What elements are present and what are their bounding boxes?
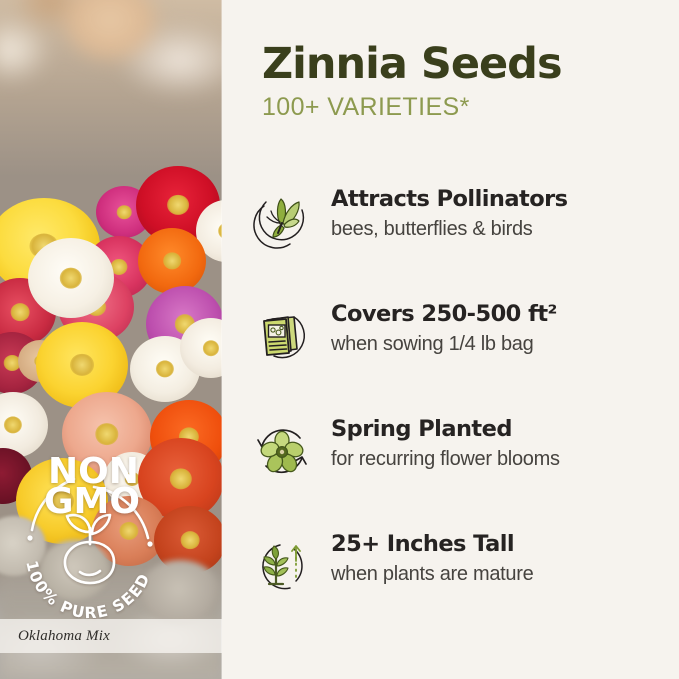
feature-row: Covers 250-500 ft² when sowing 1/4 lb ba… (232, 301, 652, 416)
photo-caption-bar: Oklahoma Mix (0, 619, 222, 653)
seed-packet-icon (250, 305, 314, 369)
photo-caption-text: Oklahoma Mix (18, 628, 110, 645)
page-subtitle: 100+ VARIETIES* (262, 93, 662, 122)
plant-height-icon (250, 535, 314, 599)
product-infographic: 100% PURE SEED NON GMO Oklahoma Mix Zinn… (0, 0, 679, 679)
feature-text: Spring Planted for recurring flower bloo… (331, 416, 560, 472)
feature-heading: Attracts Pollinators (331, 186, 568, 213)
feature-list: Attracts Pollinators bees, butterflies &… (232, 186, 652, 646)
zinnia-bouquet (0, 0, 222, 679)
info-panel: Zinnia Seeds 100+ VARIETIES* (222, 0, 679, 679)
feature-subtext: bees, butterflies & birds (331, 217, 568, 242)
title-block: Zinnia Seeds 100+ VARIETIES* (262, 42, 662, 122)
feature-subtext: when sowing 1/4 lb bag (331, 332, 557, 357)
feature-text: Covers 250-500 ft² when sowing 1/4 lb ba… (331, 301, 557, 357)
feature-heading: 25+ Inches Tall (331, 531, 533, 558)
product-photo: 100% PURE SEED NON GMO Oklahoma Mix (0, 0, 222, 679)
butterfly-icon (250, 190, 314, 254)
feature-row: Attracts Pollinators bees, butterflies &… (232, 186, 652, 301)
feature-text: 25+ Inches Tall when plants are mature (331, 531, 533, 587)
feature-row: 25+ Inches Tall when plants are mature (232, 531, 652, 646)
feature-text: Attracts Pollinators bees, butterflies &… (331, 186, 568, 242)
feature-subtext: for recurring flower blooms (331, 447, 560, 472)
feature-subtext: when plants are mature (331, 562, 533, 587)
feature-heading: Spring Planted (331, 416, 560, 443)
feature-row: Spring Planted for recurring flower bloo… (232, 416, 652, 531)
flower-cycle-icon (250, 420, 314, 484)
feature-heading: Covers 250-500 ft² (331, 301, 557, 328)
page-title: Zinnia Seeds (262, 42, 662, 87)
